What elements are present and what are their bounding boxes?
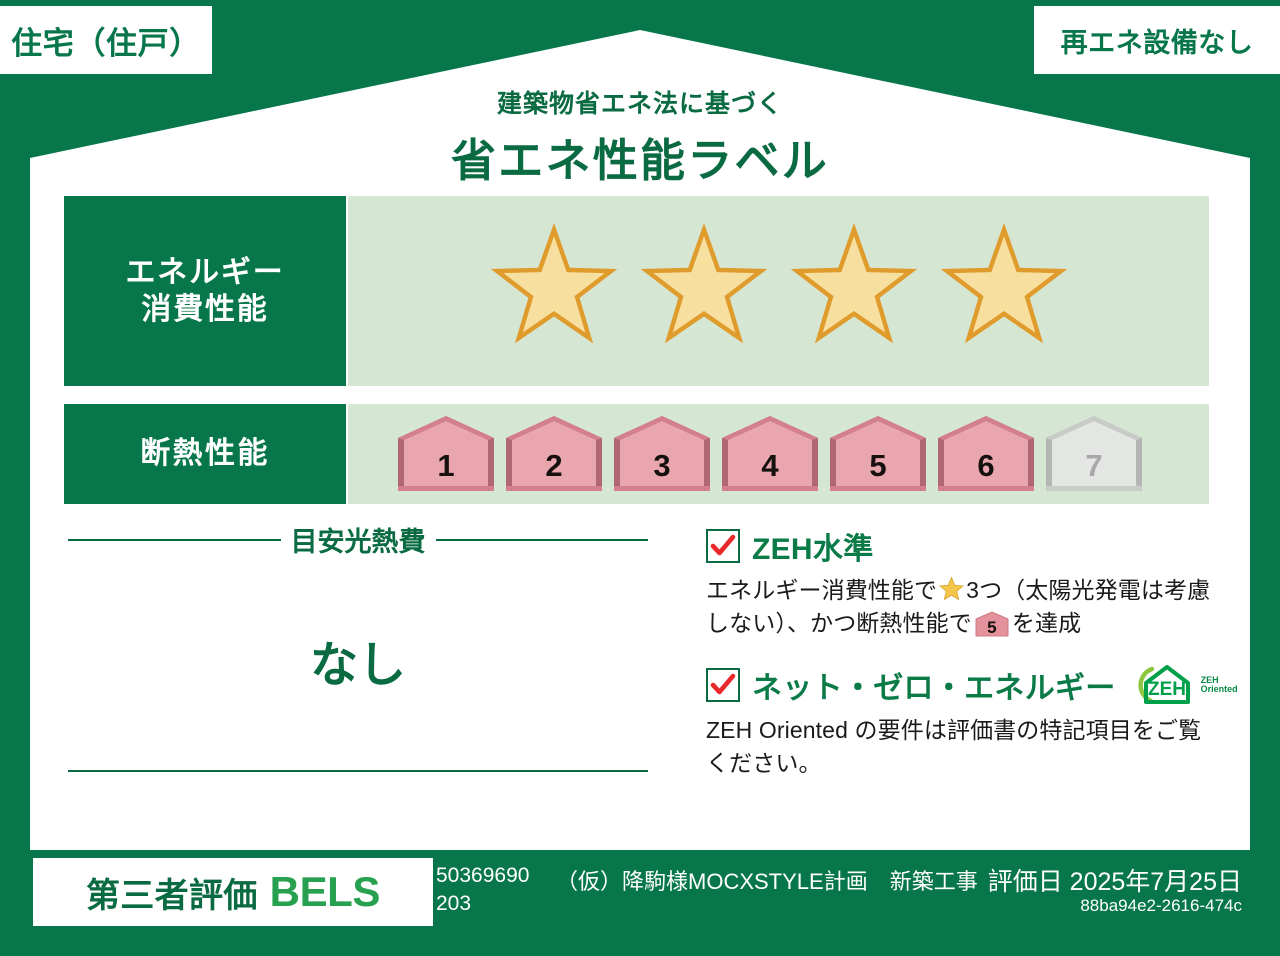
registration-number: 50369690203 [436, 862, 556, 919]
zeh-body-part1: エネルギー消費性能で [706, 577, 937, 603]
zeh-logo-text: ZEH [1148, 679, 1186, 700]
insulation-level-scale: 1234567 [392, 412, 1148, 496]
zeh-oriented-caption: ZEH Oriented [1201, 676, 1238, 695]
label-title-block: 建築物省エネ法に基づく 省エネ性能ラベル [0, 84, 1280, 189]
insulation-level-chip: 4 [716, 412, 824, 496]
energy-label-line2: 消費性能 [141, 291, 268, 329]
building-type-badge: 住宅（住戸） [0, 6, 212, 74]
project-name: （仮）降駒様MOCXSTYLE計画 新築工事 [556, 864, 978, 896]
rule-left [68, 539, 281, 541]
zeh-standard-checkbox[interactable] [706, 529, 740, 563]
insulation-level-chip: 3 [608, 412, 716, 496]
title-main: 省エネ性能ラベル [0, 124, 1280, 189]
insulation-level-number: 4 [716, 448, 824, 484]
zeh-standard-header: ZEH水準 [706, 524, 1216, 568]
net-zero-energy-title: ネット・ゼロ・エネルギー [752, 663, 1116, 707]
utility-cost-heading: 目安光熱費 [68, 520, 648, 559]
insulation-chip-inline-number: 5 [975, 616, 1009, 641]
evaluation-date: 評価日 2025年7月25日 [988, 862, 1242, 898]
insulation-performance-label: 断熱性能 [64, 404, 346, 504]
check-icon [710, 533, 736, 559]
building-type-text: 住宅（住戸） [11, 18, 201, 63]
insulation-level-chip: 6 [932, 412, 1040, 496]
insulation-level-number: 5 [824, 448, 932, 484]
utility-cost-heading-text: 目安光熱費 [291, 520, 426, 559]
star-icon [480, 220, 628, 362]
bels-logo-jp: 第三者評価 [86, 868, 258, 917]
star-icon [939, 576, 964, 601]
insulation-level-number: 1 [392, 448, 500, 484]
utility-cost-block: 目安光熱費 なし [68, 520, 648, 695]
energy-performance-label: 住宅（住戸） 再エネ設備なし 建築物省エネ法に基づく 省エネ性能ラベル エネルギ… [0, 0, 1280, 956]
insulation-level-chip: 1 [392, 412, 500, 496]
star-icon [930, 220, 1078, 362]
zeh-house-logo-icon: ZEH [1132, 662, 1198, 708]
renewable-energy-text: 再エネ設備なし [1061, 21, 1254, 60]
zeh-standard-title: ZEH水準 [752, 524, 874, 568]
utility-cost-value: なし [68, 625, 648, 695]
net-zero-energy-body: ZEH Oriented の要件は評価書の特記項目をご覧ください。 [706, 714, 1216, 781]
insulation-level-number: 2 [500, 448, 608, 484]
insulation-label-text: 断熱性能 [140, 435, 270, 473]
insulation-level-chip: 5 [824, 412, 932, 496]
label-uuid: 88ba94e2-2616-474c [1080, 896, 1242, 916]
registration-number-line: 50369690 [436, 864, 529, 887]
insulation-performance-row: 断熱性能 1234567 [64, 404, 1209, 504]
insulation-performance-value: 1234567 [348, 404, 1209, 504]
insulation-chip-inline: 5 [975, 611, 1009, 637]
energy-performance-row: エネルギー 消費性能 [64, 196, 1209, 386]
zeh-body-part3: を達成 [1012, 610, 1081, 636]
insulation-level-number: 6 [932, 448, 1040, 484]
renewable-energy-badge: 再エネ設備なし [1034, 6, 1280, 74]
star-icon [630, 220, 778, 362]
net-zero-energy-block: ネット・ゼロ・エネルギー ZEH ZEH Oriented ZEH Orient… [706, 662, 1216, 781]
energy-performance-value [348, 196, 1209, 386]
zeh-standard-block: ZEH水準 エネルギー消費性能で3つ（太陽光発電は考慮しない）、かつ断熱性能で5… [706, 524, 1216, 641]
insulation-level-number: 3 [608, 448, 716, 484]
utility-cost-bottom-rule [68, 770, 648, 772]
insulation-level-number: 7 [1040, 448, 1148, 484]
zeh-caption-line2: Oriented [1201, 684, 1238, 694]
title-subtitle: 建築物省エネ法に基づく [0, 84, 1280, 120]
rule-right [436, 539, 649, 541]
star-icon [780, 220, 928, 362]
zeh-oriented-logo: ZEH ZEH Oriented [1132, 662, 1238, 708]
energy-performance-label: エネルギー 消費性能 [64, 196, 346, 386]
footer-bar: 第三者評価 BELS 50369690203 （仮）降駒様MOCXSTYLE計画… [0, 850, 1280, 956]
registration-number-line: 203 [436, 892, 471, 915]
energy-label-line1: エネルギー [126, 254, 285, 292]
net-zero-energy-checkbox[interactable] [706, 668, 740, 702]
star-rating [480, 220, 1078, 362]
bels-logo-en: BELS [270, 868, 380, 916]
zeh-standard-body: エネルギー消費性能で3つ（太陽光発電は考慮しない）、かつ断熱性能で5を達成 [706, 574, 1216, 641]
insulation-level-chip: 7 [1040, 412, 1148, 496]
bels-logo: 第三者評価 BELS [33, 858, 433, 926]
check-icon [710, 672, 736, 698]
net-zero-energy-header: ネット・ゼロ・エネルギー ZEH ZEH Oriented [706, 662, 1216, 708]
insulation-level-chip: 2 [500, 412, 608, 496]
